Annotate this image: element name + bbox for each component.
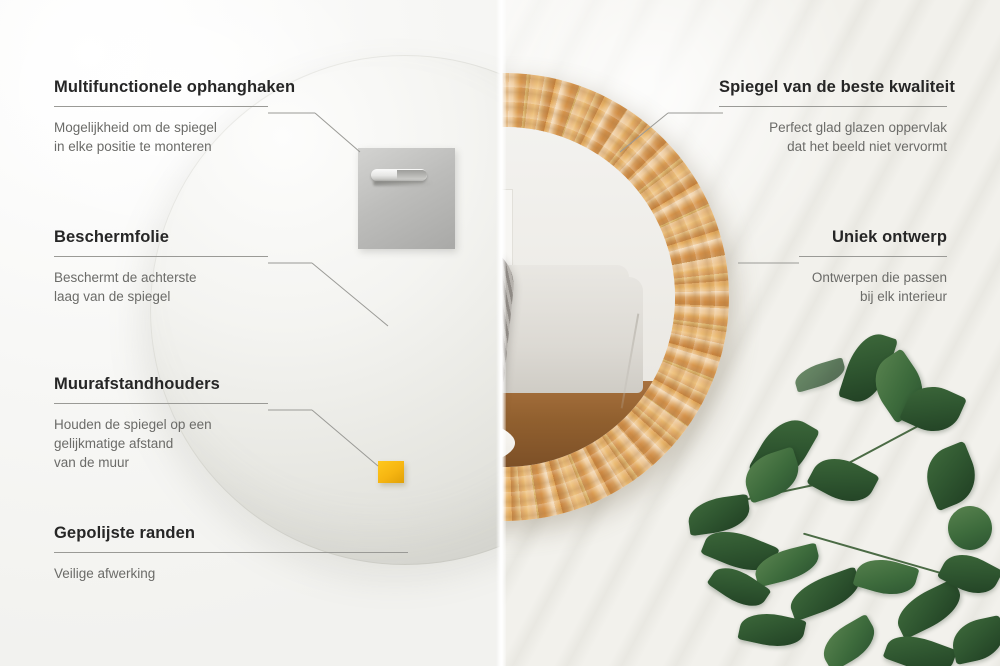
mirror-glass-surface	[502, 127, 675, 467]
callout-body-line: bij elk interieur	[860, 289, 947, 304]
callout-body: Mogelijkheid om de spiegel in elke posit…	[54, 118, 268, 156]
callout-ophanghaken: Multifunctionele ophanghaken Mogelijkhei…	[54, 78, 268, 156]
callout-rule	[54, 552, 408, 553]
reflection-wooden-floor	[502, 381, 675, 467]
panel-divider	[496, 0, 506, 666]
callout-beste-kwaliteit: Spiegel van de beste kwaliteit Perfect g…	[719, 78, 947, 156]
hook-slot-icon	[371, 169, 427, 181]
callout-body-line: laag van de spiegel	[54, 289, 170, 304]
callout-body: Veilige afwerking	[54, 564, 408, 583]
callout-rule	[54, 106, 268, 107]
leaf	[948, 615, 1000, 665]
leaf	[945, 503, 996, 554]
leaf	[739, 446, 805, 503]
callout-gepolijste-randen: Gepolijste randen Veilige afwerking	[54, 524, 408, 583]
callout-body-line: Beschermt de achterste	[54, 270, 197, 285]
callout-rule	[54, 403, 268, 404]
callout-body: Perfect glad glazen oppervlak dat het be…	[719, 118, 947, 156]
callout-title: Uniek ontwerp	[799, 228, 947, 247]
callout-body-line: Ontwerpen die passen	[812, 270, 947, 285]
callout-body-line: in elke positie te monteren	[54, 139, 212, 154]
callout-title: Muurafstandhouders	[54, 375, 268, 394]
callout-title: Gepolijste randen	[54, 524, 408, 543]
leaf	[883, 627, 958, 666]
callout-body: Beschermt de achterste laag van de spieg…	[54, 268, 268, 306]
leaf	[917, 441, 984, 512]
callout-body-line: Houden de spiegel op een	[54, 417, 212, 432]
hanging-hook-plate	[358, 148, 455, 249]
callout-title: Multifunctionele ophanghaken	[54, 78, 268, 97]
infographic-canvas: Multifunctionele ophanghaken Mogelijkhei…	[0, 0, 1000, 666]
callout-body-line: van de muur	[54, 455, 129, 470]
callout-beschermfolie: Beschermfolie Beschermt de achterste laa…	[54, 228, 268, 306]
callout-body-line: Perfect glad glazen oppervlak	[769, 120, 947, 135]
leaf	[686, 494, 752, 536]
callout-body-line: gelijkmatige afstand	[54, 436, 173, 451]
leaf	[852, 552, 919, 601]
callout-muurafstandhouders: Muurafstandhouders Houden de spiegel op …	[54, 375, 268, 472]
callout-rule	[54, 256, 268, 257]
callout-body-line: dat het beeld niet vervormt	[787, 139, 947, 154]
callout-body: Ontwerpen die passen bij elk interieur	[799, 268, 947, 306]
callout-title: Spiegel van de beste kwaliteit	[719, 78, 947, 97]
callout-body-line: Veilige afwerking	[54, 566, 155, 581]
leaf	[806, 448, 880, 512]
callout-uniek-ontwerp: Uniek ontwerp Ontwerpen die passen bij e…	[799, 228, 947, 306]
hook-shadow	[373, 181, 433, 186]
callout-body: Houden de spiegel op een gelijkmatige af…	[54, 415, 268, 472]
callout-body-line: Mogelijkheid om de spiegel	[54, 120, 217, 135]
callout-rule	[719, 106, 947, 107]
callout-rule	[799, 256, 947, 257]
eucalyptus-foliage	[680, 320, 1000, 666]
reflection-sofa	[502, 277, 643, 393]
yellow-wall-spacer	[378, 461, 404, 483]
callout-title: Beschermfolie	[54, 228, 268, 247]
leaf	[815, 614, 882, 666]
